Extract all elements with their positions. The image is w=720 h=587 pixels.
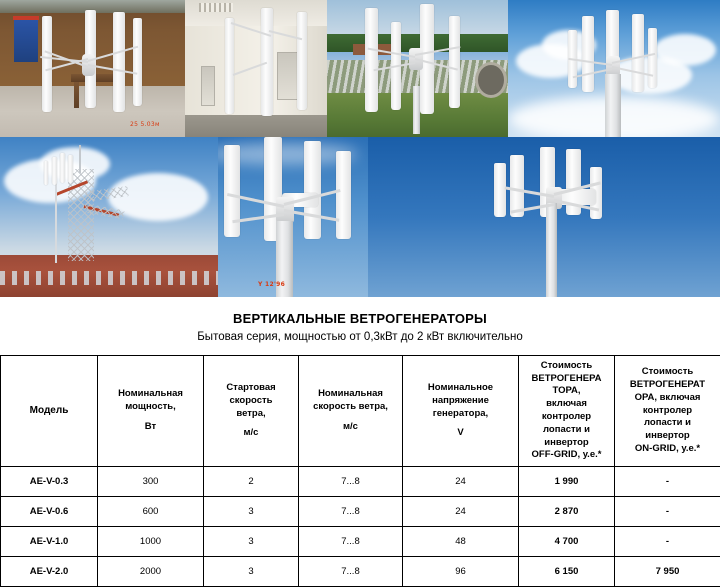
cell-price_off_grid: 2 870 (519, 497, 615, 527)
cell-power: 300 (98, 467, 204, 497)
turbine-mast (546, 203, 557, 297)
cell-rated_speed: 7...8 (299, 467, 403, 497)
cell-model: AE-V-0.3 (1, 467, 98, 497)
cell-start_speed: 2 (204, 467, 299, 497)
photo-row-bottom: Y 12'96 (0, 137, 720, 297)
column-header-voltage: Номинальноенапряжениегенератора,V (403, 356, 519, 467)
cell-model: AE-V-0.6 (1, 497, 98, 527)
photo-caption: Y 12'96 (258, 281, 285, 288)
column-header-price-on-grid: СтоимостьВЕТРОГЕНЕРАТОРА, включаяконтрол… (615, 356, 720, 467)
cell-voltage: 48 (403, 527, 519, 557)
cell-start_speed: 3 (204, 527, 299, 557)
cell-price_on_grid: - (615, 497, 720, 527)
cell-voltage: 24 (403, 467, 519, 497)
cell-start_speed: 3 (204, 557, 299, 587)
photo-turbine-indoor-assembly-hall (185, 0, 327, 137)
cell-model: AE-V-2.0 (1, 557, 98, 587)
cell-model: AE-V-1.0 (1, 527, 98, 557)
photo-caption: 25 5.03м (130, 121, 160, 128)
cell-start_speed: 3 (204, 497, 299, 527)
cell-price_off_grid: 1 990 (519, 467, 615, 497)
table-row: AE-V-0.330027...8241 990- (1, 467, 720, 497)
column-header-price-off-grid: СтоимостьВЕТРОГЕНЕРАТОРА,включаяконтроле… (519, 356, 615, 467)
cell-rated_speed: 7...8 (299, 497, 403, 527)
page-title: ВЕРТИКАЛЬНЫЕ ВЕТРОГЕНЕРАТОРЫ (0, 311, 720, 326)
column-header-rated-speed: Номинальнаяскорость ветра,м/с (299, 356, 403, 467)
cell-rated_speed: 7...8 (299, 557, 403, 587)
table-row: AE-V-1.0100037...8484 700- (1, 527, 720, 557)
photo-turbine-green-field-pipes (327, 0, 508, 137)
column-header-power: Номинальнаямощность,Вт (98, 356, 204, 467)
cell-rated_speed: 7...8 (299, 527, 403, 557)
concrete-pipe (475, 62, 507, 98)
photo-turbine-on-tall-mast (368, 137, 720, 297)
photo-gallery: 25 5.03м (0, 0, 720, 297)
cell-power: 1000 (98, 527, 204, 557)
title-block: ВЕРТИКАЛЬНЫЕ ВЕТРОГЕНЕРАТОРЫ Бытовая сер… (0, 297, 720, 343)
specifications-table: Модель Номинальнаямощность,Вт Стартоваяс… (0, 355, 720, 587)
photo-turbine-against-clouds (508, 0, 720, 137)
table-row: AE-V-0.660037...8242 870- (1, 497, 720, 527)
table-header-row: Модель Номинальнаямощность,Вт Стартоваяс… (1, 356, 720, 467)
cell-power: 600 (98, 497, 204, 527)
cell-power: 2000 (98, 557, 204, 587)
column-header-start-speed: Стартоваяскоростьветра,м/с (204, 356, 299, 467)
table-row: AE-V-2.0200037...8966 1507 950 (1, 557, 720, 587)
photo-turbine-on-bench-dirt-field: 25 5.03м (0, 0, 185, 137)
table-header: Модель Номинальнаямощность,Вт Стартоваяс… (1, 356, 720, 467)
blue-cart (14, 18, 38, 62)
photo-turbine-closeup-blue-sky: Y 12'96 (218, 137, 368, 297)
page-subtitle: Бытовая серия, мощностью от 0,3кВт до 2 … (0, 331, 720, 343)
cell-price_on_grid: 7 950 (615, 557, 720, 587)
table-body: AE-V-0.330027...8241 990-AE-V-0.660037..… (1, 467, 720, 587)
cell-voltage: 96 (403, 557, 519, 587)
cell-price_off_grid: 4 700 (519, 527, 615, 557)
brick-building (0, 255, 218, 297)
cell-price_on_grid: - (615, 467, 720, 497)
column-header-model: Модель (1, 356, 98, 467)
cell-price_on_grid: - (615, 527, 720, 557)
photo-row-top: 25 5.03м (0, 0, 720, 137)
cell-voltage: 24 (403, 497, 519, 527)
cell-price_off_grid: 6 150 (519, 557, 615, 587)
photo-turbine-on-rooftop-lattice-tower (0, 137, 218, 297)
